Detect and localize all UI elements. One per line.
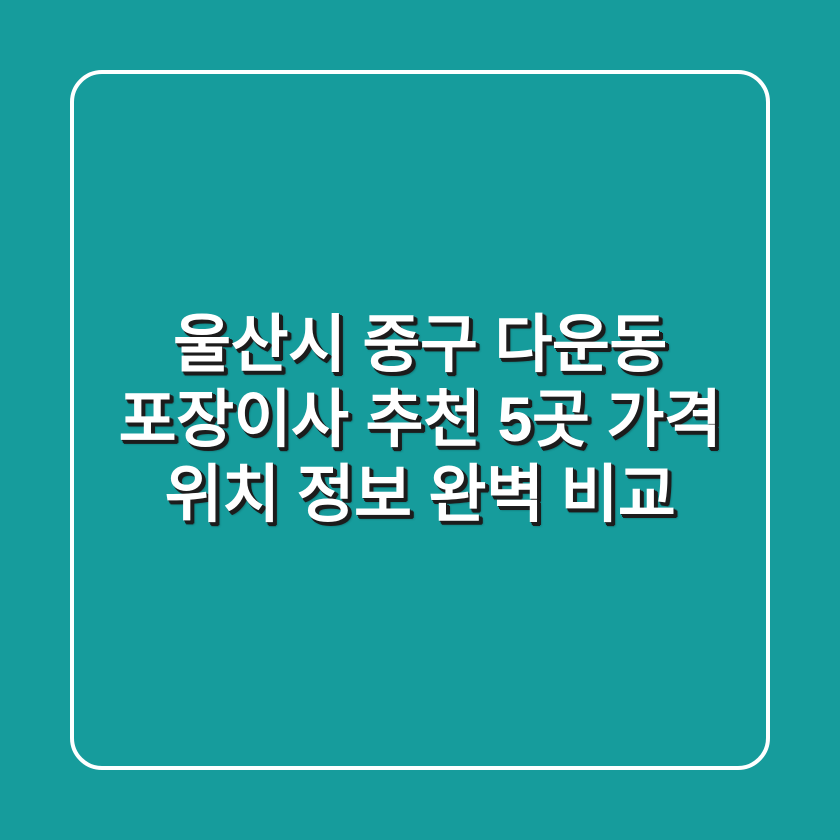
headline-container: 울산시 중구 다운동 포장이사 추천 5곳 가격 위치 정보 완벽 비교 [0,0,840,840]
page-title: 울산시 중구 다운동 포장이사 추천 5곳 가격 위치 정보 완벽 비교 [96,308,744,533]
thumbnail-card: 울산시 중구 다운동 포장이사 추천 5곳 가격 위치 정보 완벽 비교 [0,0,840,840]
